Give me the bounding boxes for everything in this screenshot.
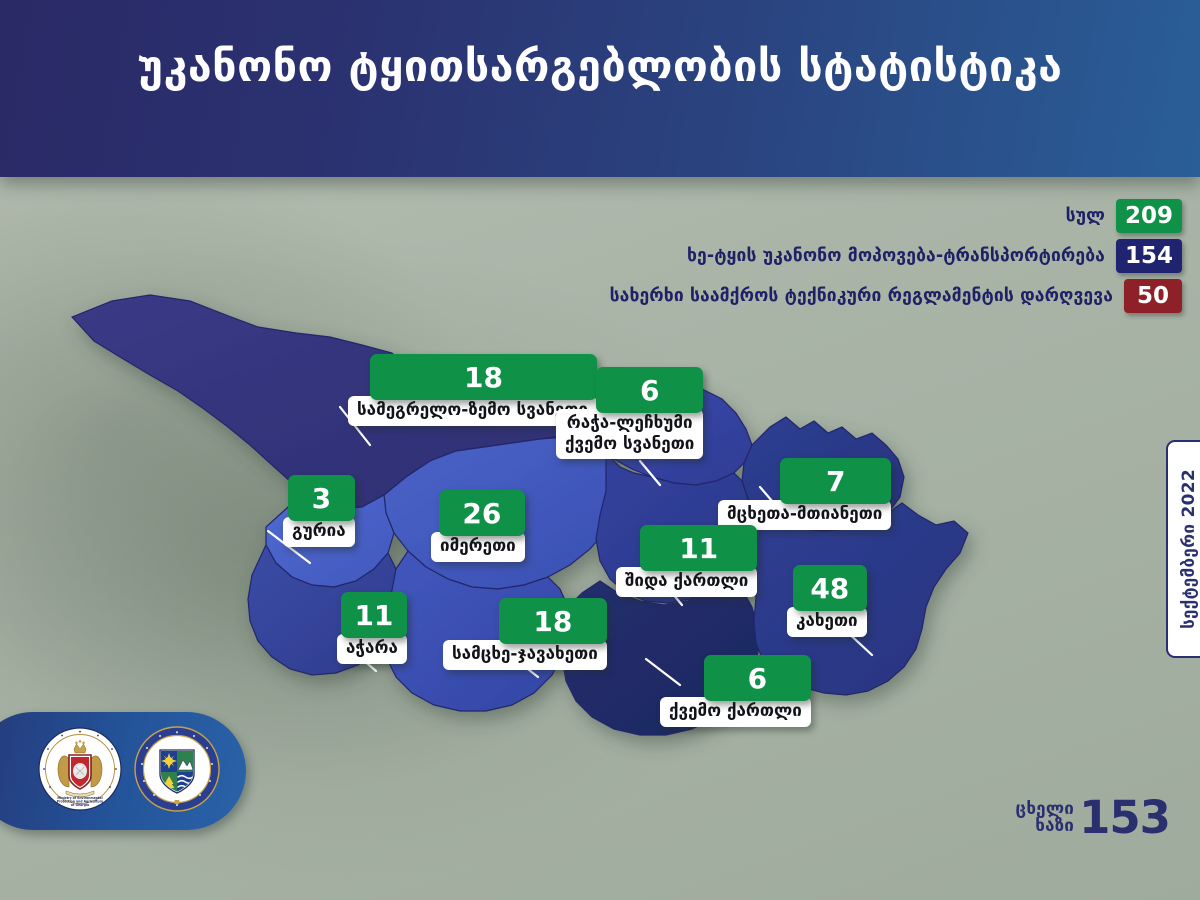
marker-label-guria: გურია <box>283 517 355 547</box>
marker-value-adjara: 11 <box>341 592 407 638</box>
marker-label-racha-lechkhumi-kvemo-svaneti: რაჭა-ლეჩხუმი ქვემო სვანეთი <box>556 409 703 459</box>
marker-kakheti[interactable]: 48 კახეთი <box>787 565 867 637</box>
marker-value-mtskheta-mtianeti: 7 <box>780 458 891 504</box>
department-emblem <box>134 726 220 816</box>
ministry-emblem: Ministry of Environmental Protection and… <box>38 727 122 815</box>
marker-label-line1: რაჭა-ლეჩხუმი <box>565 413 694 434</box>
legend-label-sawmill-violation: სახერხი საამქროს ტექნიკური რეგლამენტის დ… <box>610 286 1113 306</box>
legend-row-total: სულ 209 <box>1066 199 1182 233</box>
marker-label-line2: ქვემო სვანეთი <box>565 434 694 455</box>
marker-label-imereti: იმერეთი <box>431 532 525 562</box>
marker-label-kakheti: კახეთი <box>787 607 867 637</box>
marker-label-samtskhe-javakheti: სამცხე-ჯავახეთი <box>443 640 607 670</box>
marker-value-guria: 3 <box>288 475 355 521</box>
marker-label-shida-kartli: შიდა ქართლი <box>616 567 757 597</box>
legend-badge-sawmill-violation: 50 <box>1124 279 1182 313</box>
legend-label-total: სულ <box>1066 206 1105 226</box>
marker-value-samtskhe-javakheti: 18 <box>499 598 607 644</box>
marker-label-adjara: აჭარა <box>337 634 407 664</box>
legend-row-illegal-logging: ხე-ტყის უკანონო მოპოვება-ტრანსპორტირება … <box>687 239 1182 273</box>
hotline-label-line2: ხაზი <box>1016 818 1075 835</box>
marker-adjara[interactable]: 11 აჭარა <box>337 592 407 664</box>
marker-value-kvemo-kartli: 6 <box>704 655 811 701</box>
marker-shida-kartli[interactable]: 11 შიდა ქართლი <box>616 525 757 597</box>
marker-value-kakheti: 48 <box>793 565 867 611</box>
marker-imereti[interactable]: 26 იმერეთი <box>431 490 525 562</box>
legend-badge-total: 209 <box>1116 199 1182 233</box>
legend-row-sawmill-violation: სახერხი საამქროს ტექნიკური რეგლამენტის დ… <box>610 279 1182 313</box>
page-title: უკანონო ტყითსარგებლობის სტატისტიკა <box>0 44 1200 90</box>
date-text: სექტემბერი 2022 <box>1179 469 1199 629</box>
hotline: ცხელი ხაზი 153 <box>1016 798 1170 839</box>
marker-guria[interactable]: 3 გურია <box>283 475 355 547</box>
legend-badge-illegal-logging: 154 <box>1116 239 1182 273</box>
date-badge: სექტემბერი 2022 <box>1166 440 1200 658</box>
logo-bar: Ministry of Environmental Protection and… <box>0 712 246 830</box>
hotline-label: ცხელი ხაზი <box>1016 801 1075 835</box>
marker-value-racha-lechkhumi-kvemo-svaneti: 6 <box>596 367 703 413</box>
svg-text:of Georgia: of Georgia <box>71 803 89 807</box>
marker-samtskhe-javakheti[interactable]: 18 სამცხე-ჯავახეთი <box>443 598 607 670</box>
legend: სულ 209 ხე-ტყის უკანონო მოპოვება-ტრანსპო… <box>610 199 1182 313</box>
marker-value-shida-kartli: 11 <box>640 525 757 571</box>
hotline-number: 153 <box>1079 798 1170 839</box>
marker-racha-lechkhumi-kvemo-svaneti[interactable]: 6 რაჭა-ლეჩხუმი ქვემო სვანეთი <box>556 367 703 459</box>
marker-mtskheta-mtianeti[interactable]: 7 მცხეთა-მთიანეთი <box>718 458 891 530</box>
marker-kvemo-kartli[interactable]: 6 ქვემო ქართლი <box>660 655 811 727</box>
marker-value-imereti: 26 <box>439 490 525 536</box>
legend-label-illegal-logging: ხე-ტყის უკანონო მოპოვება-ტრანსპორტირება <box>687 246 1105 266</box>
marker-label-kvemo-kartli: ქვემო ქართლი <box>660 697 811 727</box>
header-banner: უკანონო ტყითსარგებლობის სტატისტიკა <box>0 0 1200 177</box>
